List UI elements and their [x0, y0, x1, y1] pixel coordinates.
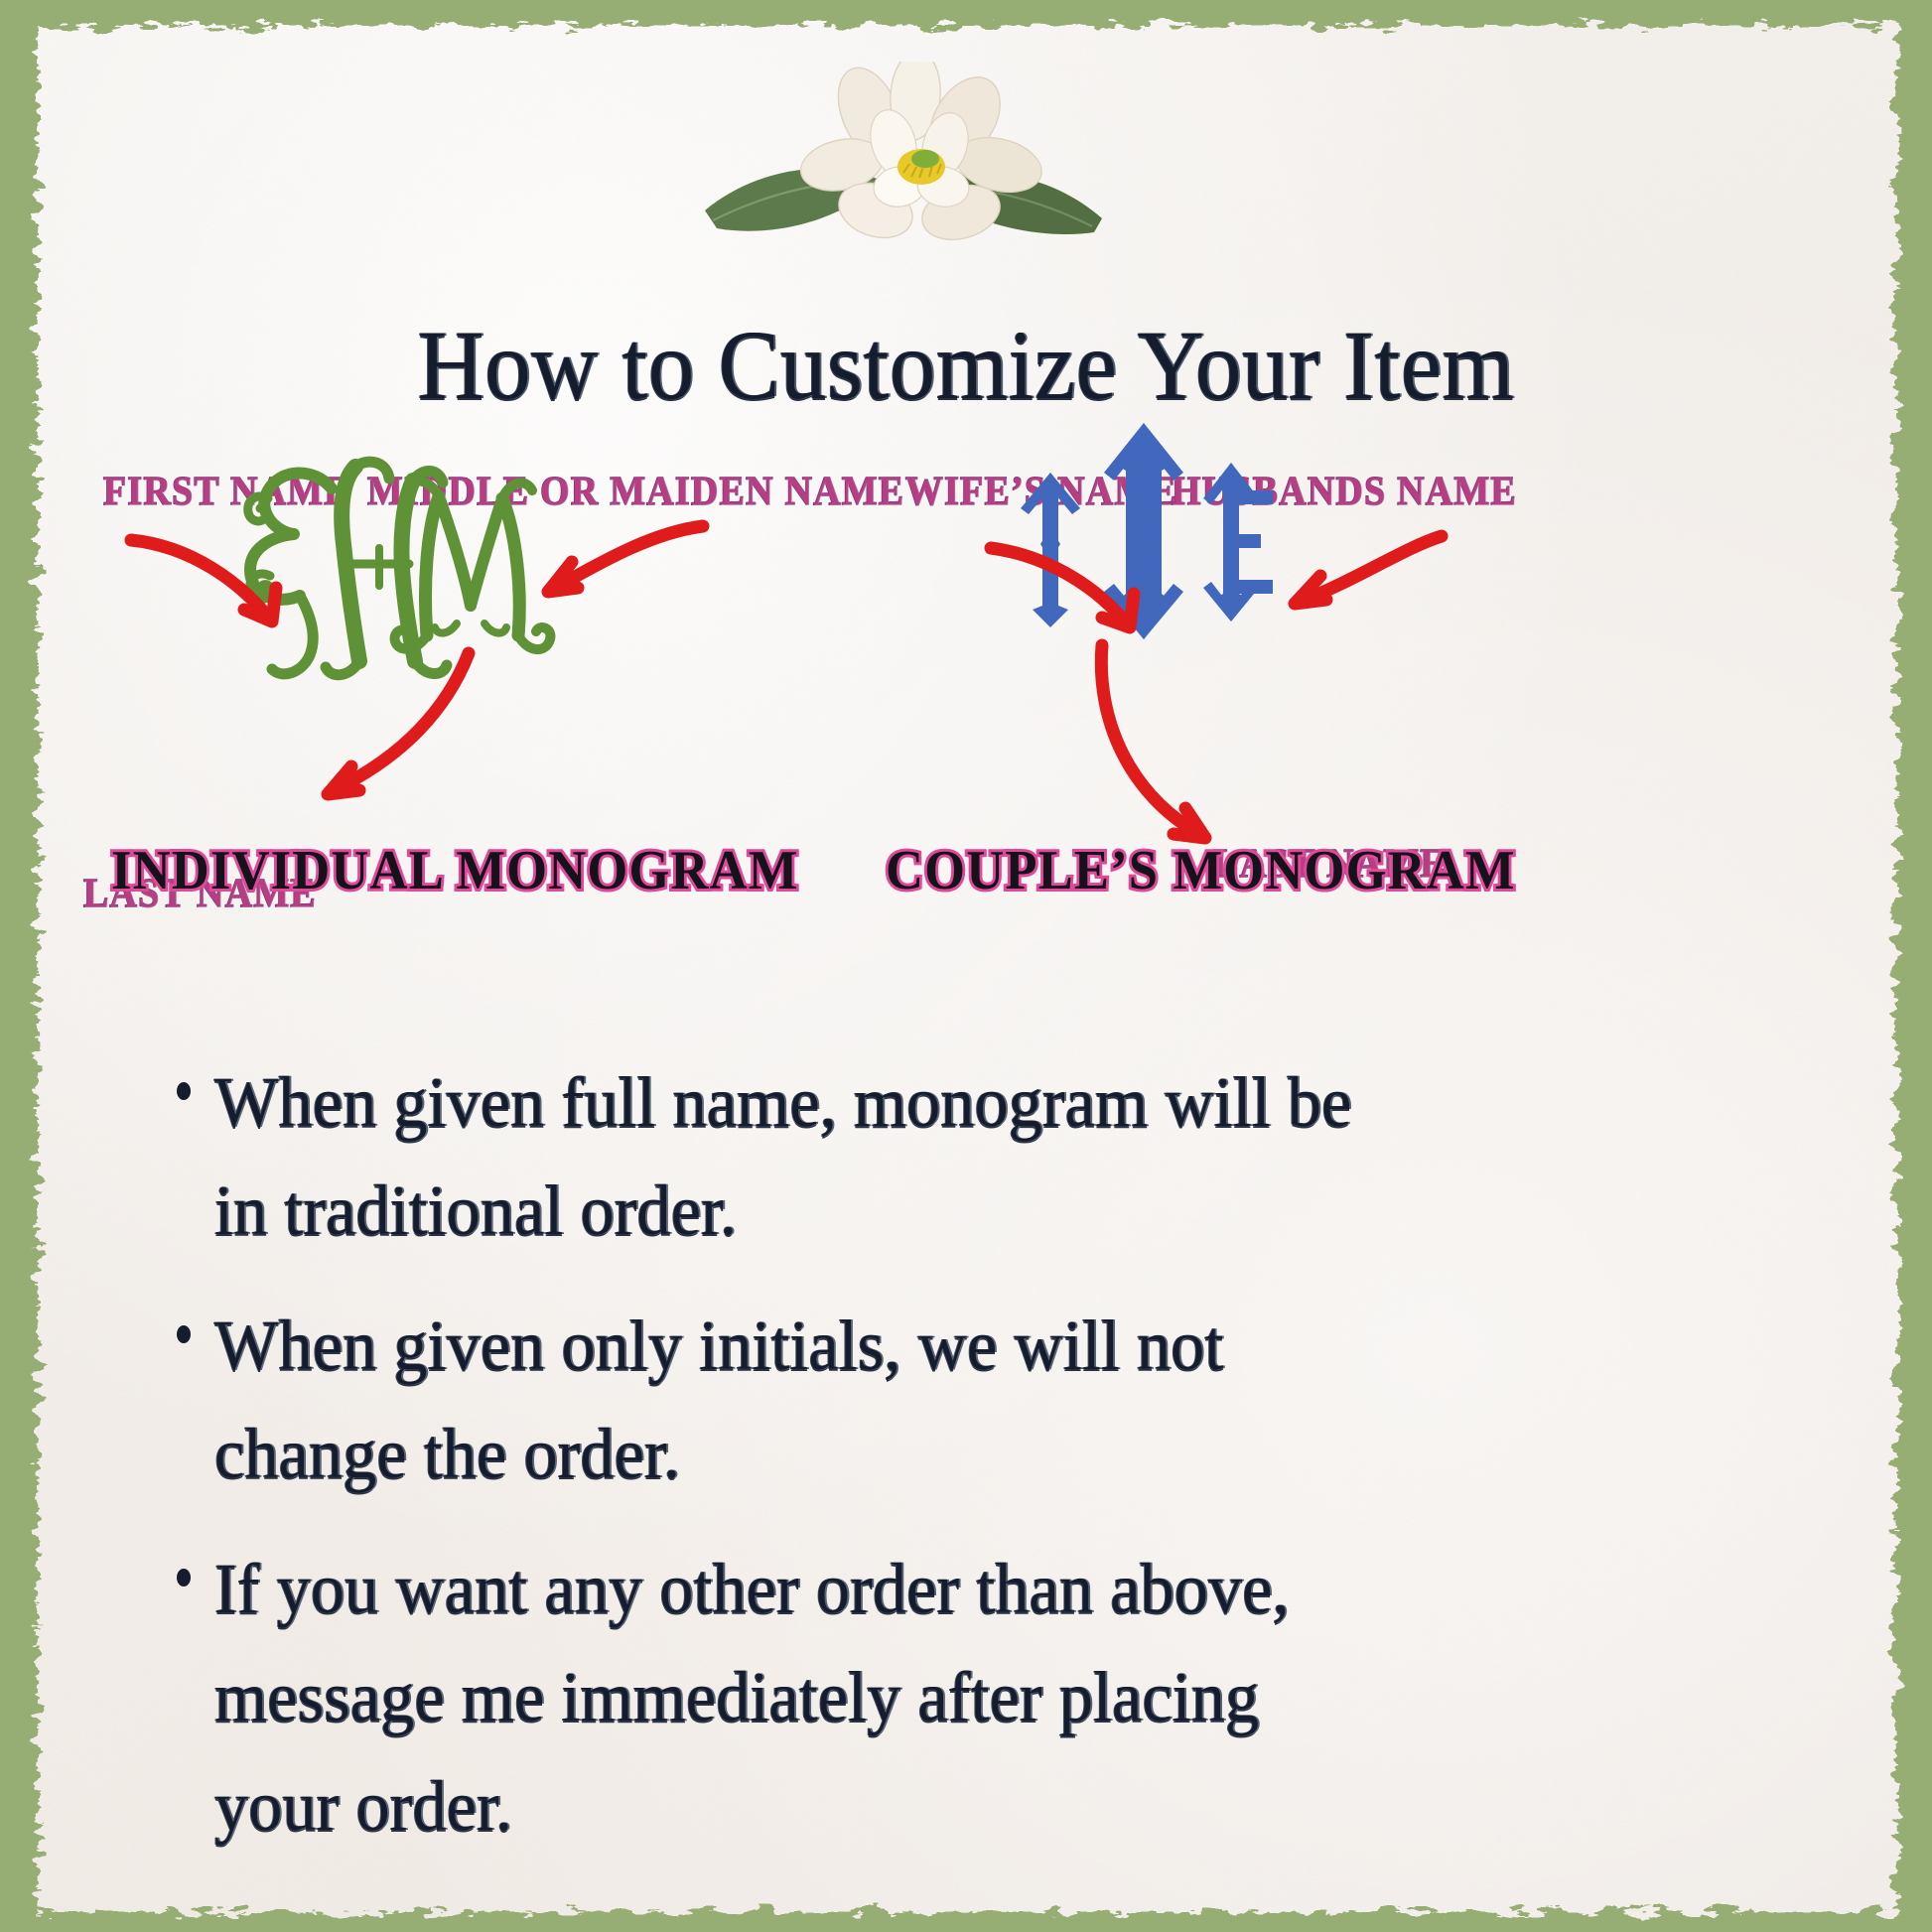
- list-item-text: When given only initials, we will not ch…: [214, 1292, 1386, 1509]
- magnolia-flower-icon: [695, 62, 1112, 260]
- list-item-text: When given full name, monogram will be i…: [214, 1048, 1386, 1266]
- monogram-letter-e: [1203, 463, 1273, 621]
- list-item: When given only initials, we will not ch…: [177, 1292, 1448, 1509]
- list-item-text: If you want any other order than above, …: [214, 1535, 1386, 1861]
- page-title: How to Customize Your Item: [68, 308, 1864, 422]
- list-item: When given full name, monogram will be i…: [177, 1048, 1448, 1266]
- flower-center: [897, 149, 945, 185]
- arrow-middle-maiden-name: [516, 516, 715, 635]
- notes-list: When given full name, monogram will be i…: [177, 1048, 1448, 1886]
- arrow-first-name: [117, 524, 336, 653]
- bullet-dot-icon: [177, 1082, 191, 1100]
- arrow-husbands-name: [1265, 526, 1453, 645]
- bullet-dot-icon: [177, 1325, 191, 1343]
- list-item: If you want any other order than above, …: [177, 1535, 1448, 1861]
- infographic-canvas: How to Customize Your Item FIRST NAME MI…: [0, 0, 1932, 1932]
- caption-individual-monogram: INDIVIDUAL MONOGRAM: [111, 839, 799, 902]
- arrow-last-name-couple: [1070, 635, 1289, 864]
- bullet-dot-icon: [177, 1569, 191, 1587]
- arrow-last-name-individual: [298, 645, 486, 814]
